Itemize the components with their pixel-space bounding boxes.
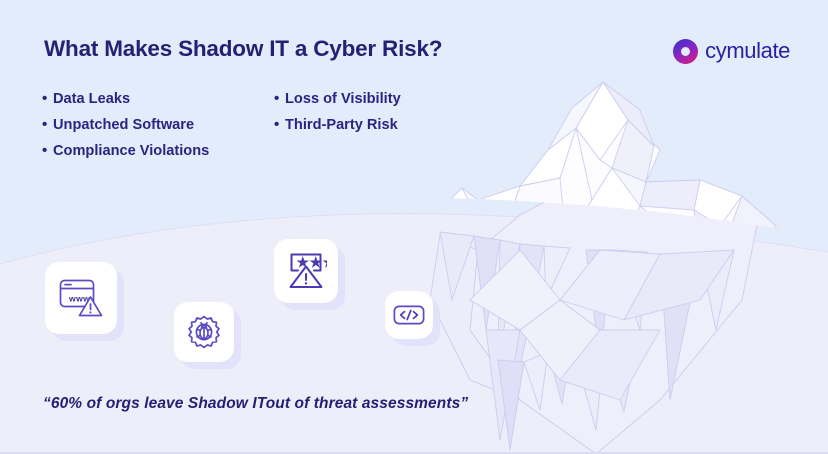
risk-list-left: • Data Leaks • Unpatched Software • Comp… (42, 86, 209, 164)
bullet-icon: • (42, 112, 53, 138)
risk-list-right: • Loss of Visibility • Third-Party Risk (274, 86, 401, 138)
list-item: • Compliance Violations (42, 138, 209, 164)
list-item: • Loss of Visibility (274, 86, 401, 112)
brand-name: cymulate (705, 38, 790, 64)
icon-card-code (385, 291, 433, 339)
bullet-icon: • (274, 86, 285, 112)
list-item: • Unpatched Software (42, 112, 209, 138)
svg-text:★★★: ★★★ (297, 254, 328, 270)
code-brackets-icon (393, 303, 425, 327)
list-item-label: Third-Party Risk (285, 112, 398, 138)
statistic-quote: “60% of orgs leave Shadow ITout of threa… (43, 395, 468, 413)
gear-bug-icon (186, 314, 222, 350)
list-item-label: Unpatched Software (53, 112, 194, 138)
list-item-label: Compliance Violations (53, 138, 209, 164)
cymulate-ring-mark-icon (673, 39, 698, 64)
list-item-label: Data Leaks (53, 86, 130, 112)
icon-card-browser-www: www (45, 262, 117, 334)
browser-www-warning-icon: www (58, 277, 104, 319)
brand-logo[interactable]: cymulate (673, 38, 790, 64)
iceberg-illustration (0, 0, 828, 454)
infographic-canvas: What Makes Shadow IT a Cyber Risk? cymul… (0, 0, 828, 454)
page-title: What Makes Shadow IT a Cyber Risk? (44, 36, 442, 62)
bullet-icon: • (42, 86, 53, 112)
icon-card-gear-bug (174, 302, 234, 362)
icon-card-password-warning: ★★★ (274, 239, 338, 303)
list-item-label: Loss of Visibility (285, 86, 401, 112)
password-warning-icon: ★★★ (285, 250, 327, 292)
bullet-icon: • (274, 112, 285, 138)
bullet-icon: • (42, 138, 53, 164)
list-item: • Third-Party Risk (274, 112, 401, 138)
list-item: • Data Leaks (42, 86, 209, 112)
